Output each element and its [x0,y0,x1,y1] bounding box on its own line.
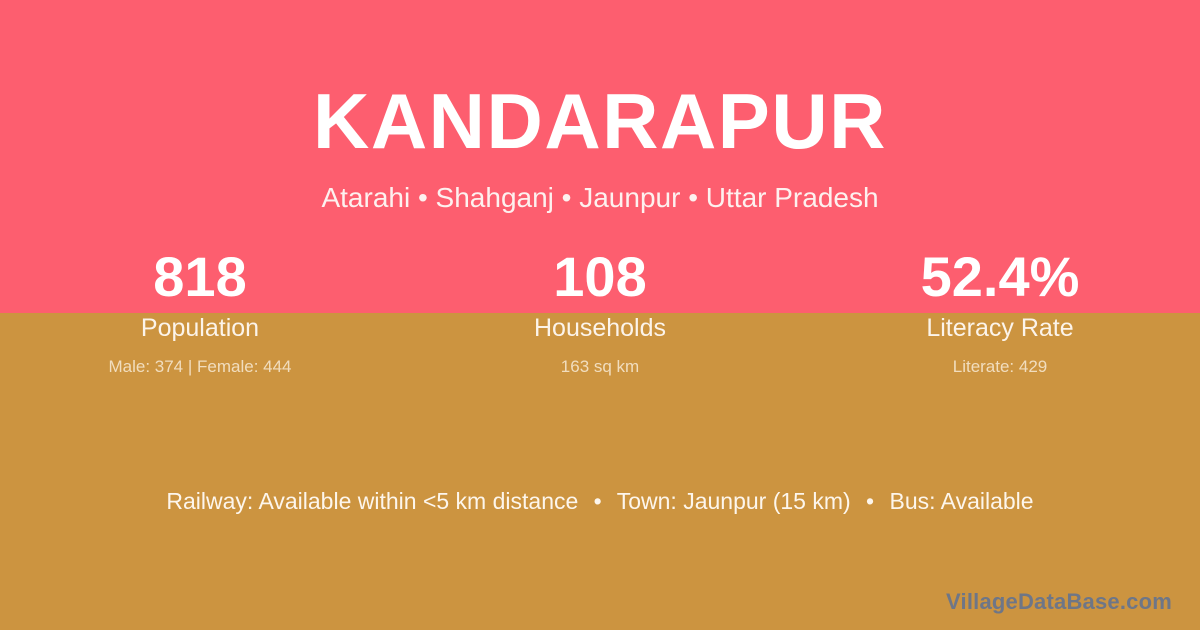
stat-population-detail: Male: 374 | Female: 444 [0,356,400,378]
stat-literacy-label: Literacy Rate [800,312,1200,344]
stat-households-label: Households [400,312,800,344]
stat-population-label: Population [0,312,400,344]
infrastructure-summary: Railway: Available within <5 km distance… [0,486,1200,516]
infrastructure-railway: Railway: Available within <5 km distance [166,488,578,514]
stat-households-value: 108 [400,246,800,308]
infrastructure-separator-1-icon: • [585,486,611,516]
infrastructure-separator-2-icon: • [857,486,883,516]
stat-literacy: 52.4% Literacy Rate Literate: 429 [800,246,1200,378]
stat-literacy-detail: Literate: 429 [800,356,1200,378]
site-brand-watermark: VillageDataBase.com [946,588,1172,616]
infrastructure-town: Town: Jaunpur (15 km) [617,488,851,514]
stat-households-detail: 163 sq km [400,356,800,378]
stats-row: 818 Population Male: 374 | Female: 444 1… [0,246,1200,378]
village-info-card: KANDARAPUR Atarahi • Shahganj • Jaunpur … [0,0,1200,630]
infrastructure-bus: Bus: Available [890,488,1034,514]
page-title: KANDARAPUR [0,82,1200,160]
stat-literacy-value: 52.4% [800,246,1200,308]
stat-households: 108 Households 163 sq km [400,246,800,378]
stat-population-value: 818 [0,246,400,308]
stat-population: 818 Population Male: 374 | Female: 444 [0,246,400,378]
breadcrumb: Atarahi • Shahganj • Jaunpur • Uttar Pra… [0,183,1200,214]
